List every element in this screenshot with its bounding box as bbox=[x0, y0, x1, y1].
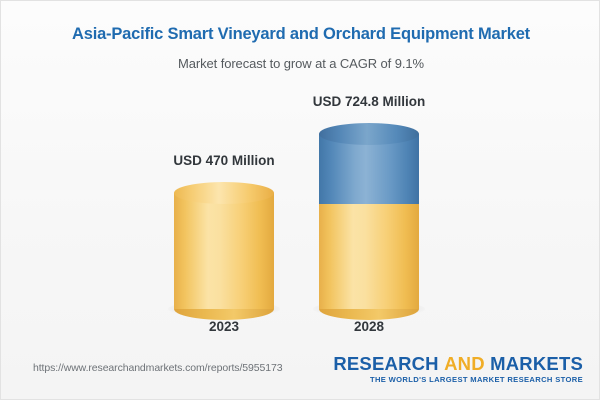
market-forecast-infographic: Asia-Pacific Smart Vineyard and Orchard … bbox=[0, 0, 600, 400]
brand-word-research: RESEARCH bbox=[333, 353, 438, 374]
x-axis-label-2023: 2023 bbox=[174, 319, 274, 334]
brand-word-markets: MARKETS bbox=[490, 353, 583, 374]
cylinder-body-2023 bbox=[174, 193, 274, 309]
source-url-link[interactable]: https://www.researchandmarkets.com/repor… bbox=[33, 362, 282, 374]
brand-tagline: THE WORLD'S LARGEST MARKET RESEARCH STOR… bbox=[333, 375, 583, 384]
value-label-2023: USD 470 Million bbox=[129, 153, 319, 168]
cylinder-body-base-2028 bbox=[319, 193, 419, 309]
cylinder-top-ellipse-2028 bbox=[319, 123, 419, 145]
chart-plot-area: USD 470 Million 2023 USD 724.8 Million bbox=[1, 1, 600, 346]
brand-word-and: AND bbox=[444, 353, 485, 374]
x-axis-label-2028: 2028 bbox=[319, 319, 419, 334]
value-label-2028: USD 724.8 Million bbox=[274, 94, 464, 109]
brand-wordmark: RESEARCH AND MARKETS bbox=[333, 354, 583, 373]
footer: https://www.researchandmarkets.com/repor… bbox=[1, 346, 600, 400]
cylinder-top-ellipse-2023 bbox=[174, 182, 274, 204]
brand-logo[interactable]: RESEARCH AND MARKETS THE WORLD'S LARGEST… bbox=[333, 354, 583, 384]
